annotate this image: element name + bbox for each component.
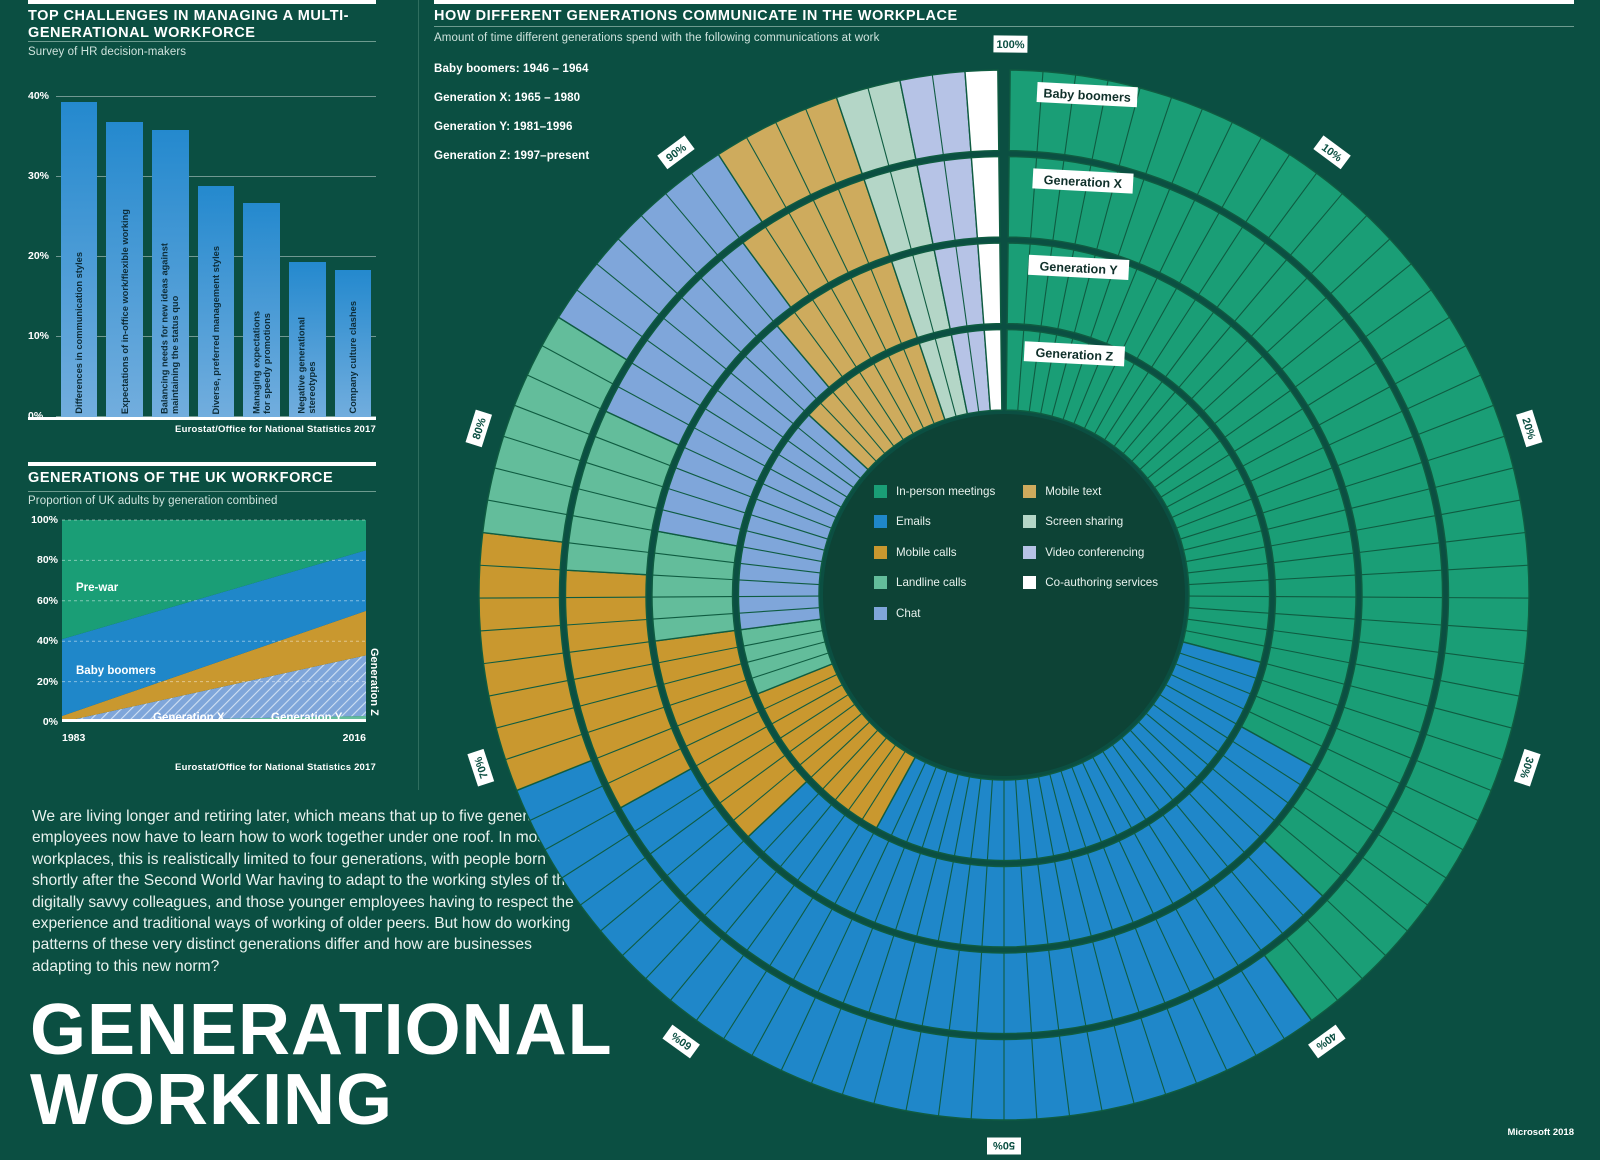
bar: Differences in communication styles [61, 102, 98, 420]
bar-y-tick-label: 10% [28, 330, 49, 342]
left-column: TOP CHALLENGES IN MANAGING A MULTI-GENER… [0, 0, 418, 1160]
sunburst-segment [965, 70, 999, 152]
bar-chart-plot: Differences in communication stylesExpec… [56, 80, 376, 420]
area-series-label: Generation X [153, 712, 225, 724]
generations-panel-title: GENERATIONS OF THE UK WORKFORCE [28, 470, 376, 487]
bar-y-tick-label: 40% [28, 90, 49, 102]
legend-swatch-icon [1023, 576, 1036, 589]
bar-y-tick-label: 20% [28, 250, 49, 262]
legend-swatch-icon [1023, 485, 1036, 498]
bar: Managing expectations for speedy promoti… [243, 203, 280, 420]
bar: Negative generational stereotypes [289, 262, 326, 420]
generations-source-note: Eurostat/Office for National Statistics … [28, 762, 376, 773]
sunburst-tick-80: 80% [466, 410, 492, 448]
legend-item-right-0[interactable]: Mobile text [1023, 476, 1158, 507]
sunburst-divider [434, 26, 1574, 27]
legend-item-right-3[interactable]: Co-authoring services [1023, 568, 1158, 599]
bar-category-label: Differences in communication styles [74, 252, 85, 414]
sunburst-top-rule [434, 0, 1574, 4]
infographic-page: { "colors": { "background": "#0b4f42", "… [0, 0, 1600, 1160]
legend-item-left-4[interactable]: Chat [874, 598, 995, 629]
legend-label: Landline calls [896, 576, 966, 589]
area-series-label: Generation Y [271, 712, 342, 724]
legend-swatch-icon [874, 607, 887, 620]
bar-category-label: Diverse, preferred management styles [211, 246, 222, 414]
area-y-tick-label: 100% [28, 514, 58, 526]
bar: Diverse, preferred management styles [198, 186, 235, 420]
sunburst-tick-20: 20% [1516, 410, 1542, 448]
legend-swatch-icon [874, 576, 887, 589]
sunburst-tick-90: 90% [657, 135, 694, 169]
sunburst-segment [652, 531, 737, 641]
area-chart-svg [62, 520, 366, 722]
legend-label: Mobile text [1045, 485, 1101, 498]
area-y-tick-label: 0% [28, 716, 58, 728]
legend-column-right: Mobile textScreen sharingVideo conferenc… [1023, 476, 1158, 629]
legend-label: Screen sharing [1045, 515, 1123, 528]
sunburst-panel-title: HOW DIFFERENT GENERATIONS COMMUNICATE IN… [434, 8, 958, 25]
area-y-tick-label: 20% [28, 676, 58, 688]
legend-label: Co-authoring services [1045, 576, 1158, 589]
bar-grid-line [56, 176, 376, 177]
generations-top-rule [28, 462, 376, 466]
legend-swatch-icon [874, 546, 887, 559]
challenges-panel-title: TOP CHALLENGES IN MANAGING A MULTI-GENER… [28, 8, 368, 42]
legend-swatch-icon [874, 515, 887, 528]
area-x-end: 2016 [343, 732, 366, 744]
sunburst-tick-30: 30% [1514, 749, 1541, 787]
area-x-start: 1983 [62, 732, 85, 744]
sunburst-tick-70: 70% [467, 749, 494, 787]
credit-note: Microsoft 2018 [1507, 1127, 1574, 1138]
legend-column-left: In-person meetingsEmailsMobile callsLand… [874, 476, 995, 629]
legend-swatch-icon [1023, 546, 1036, 559]
legend-label: Video conferencing [1045, 546, 1144, 559]
sunburst-tick-60: 60% [662, 1025, 700, 1059]
challenges-top-rule [28, 0, 376, 4]
challenges-panel-subtitle: Survey of HR decision-makers [28, 46, 186, 58]
sunburst-legend: In-person meetingsEmailsMobile callsLand… [874, 476, 1134, 629]
bar-chart-baseline [28, 417, 376, 420]
bar: Company culture clashes [335, 270, 372, 420]
legend-item-left-2[interactable]: Mobile calls [874, 537, 995, 568]
area-series-label-genz: Generation Z [368, 648, 380, 716]
legend-label: Emails [896, 515, 931, 528]
sunburst-tick-10: 10% [1313, 135, 1350, 169]
bar-category-label: Managing expectations for speedy promoti… [251, 311, 272, 414]
bar-category-label: Company culture clashes [348, 301, 359, 414]
generations-divider [28, 491, 376, 492]
bar: Expectations of in-office work/flexible … [106, 122, 143, 420]
challenges-divider [28, 41, 376, 42]
sunburst-tick-50: 50% [987, 1138, 1021, 1155]
area-chart-plot [62, 520, 366, 722]
legend-item-right-1[interactable]: Screen sharing [1023, 507, 1158, 538]
legend-item-left-3[interactable]: Landline calls [874, 568, 995, 599]
area-y-tick-label: 80% [28, 554, 58, 566]
area-y-tick-label: 60% [28, 595, 58, 607]
bar-category-label: Negative generational stereotypes [297, 317, 318, 414]
generations-area-chart: 0%20%40%60%80%100% 1983 2016 Pre-warBaby… [28, 520, 376, 748]
generations-panel-subtitle: Proportion of UK adults by generation co… [28, 495, 277, 507]
right-column: HOW DIFFERENT GENERATIONS COMMUNICATE IN… [434, 0, 1600, 1160]
challenges-bar-chart: Differences in communication stylesExpec… [28, 80, 376, 420]
legend-swatch-icon [874, 485, 887, 498]
sunburst-tick-100: 100% [993, 35, 1027, 52]
area-series-label: Baby boomers [76, 665, 156, 677]
challenges-source-note: Eurostat/Office for National Statistics … [28, 424, 376, 435]
legend-label: Mobile calls [896, 546, 957, 559]
legend-item-left-0[interactable]: In-person meetings [874, 476, 995, 507]
bar-y-tick-label: 0% [28, 410, 43, 422]
column-divider [418, 0, 419, 790]
legend-label: Chat [896, 607, 921, 620]
area-y-tick-label: 40% [28, 635, 58, 647]
svg-text:100%: 100% [996, 39, 1024, 51]
bar-grid-line [56, 96, 376, 97]
area-series-label: Pre-war [76, 582, 118, 594]
sunburst-tick-40: 40% [1308, 1025, 1346, 1059]
bar-y-tick-label: 30% [28, 170, 49, 182]
bar-category-label: Expectations of in-office work/flexible … [119, 209, 130, 414]
legend-item-left-1[interactable]: Emails [874, 507, 995, 538]
svg-text:50%: 50% [993, 1139, 1015, 1151]
bar: Balancing needs for new ideas against ma… [152, 130, 189, 420]
legend-item-right-2[interactable]: Video conferencing [1023, 537, 1158, 568]
legend-swatch-icon [1023, 515, 1036, 528]
legend-label: In-person meetings [896, 485, 995, 498]
bar-category-label: Balancing needs for new ideas against ma… [160, 243, 181, 414]
